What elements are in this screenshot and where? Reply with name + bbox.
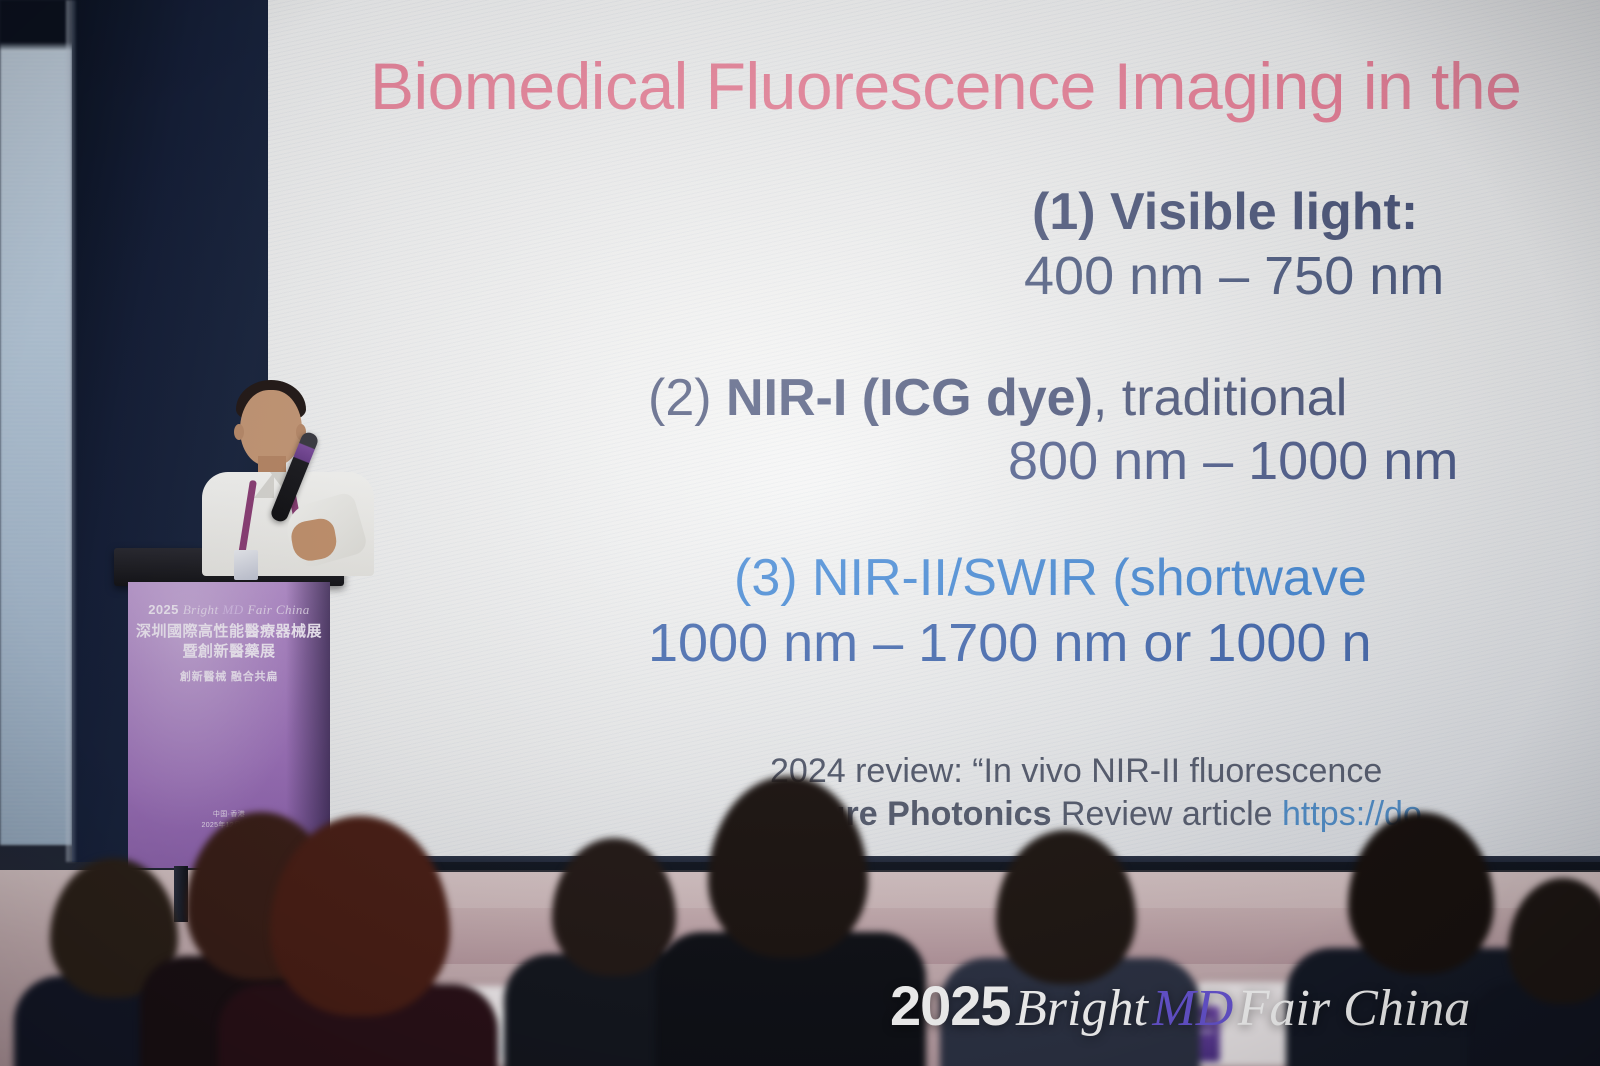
podium-cn-line-2: 暨創新醫藥展 <box>128 640 330 661</box>
projection-screen: Biomedical Fluorescence Imaging in the (… <box>268 0 1600 856</box>
audience-member <box>1480 856 1600 1066</box>
pillar-edge-highlight <box>66 0 76 862</box>
presentation-slide: Biomedical Fluorescence Imaging in the (… <box>268 0 1600 856</box>
speaker-presenter <box>196 368 386 568</box>
speaker-head <box>240 390 302 466</box>
watermark-bright: Bright <box>1015 980 1148 1037</box>
audience-member <box>660 776 910 1066</box>
slide-point-3-heading: (3) NIR-II/SWIR (shortwave <box>734 548 1367 608</box>
podium-brand-line: 2025 Bright MD Fair China <box>128 602 330 618</box>
podium-brand-bright: Bright <box>183 602 219 617</box>
watermark-fair-china: Fair China <box>1238 980 1471 1037</box>
slide-point-2-suffix: , traditional <box>1093 369 1347 427</box>
slide-title: Biomedical Fluorescence Imaging in the <box>370 52 1521 121</box>
led-window-strip <box>0 0 72 845</box>
audience-member <box>212 816 492 1066</box>
podium-cn-line-1: 深圳國際高性能醫療器械展 <box>128 620 330 641</box>
event-watermark: 2025 Bright MD Fair China <box>890 973 1470 1038</box>
podium-cn-tagline: 創新醫械 融合共扁 <box>128 668 330 684</box>
podium-brand-md: MD <box>222 602 243 617</box>
slide-point-2-range: 800 nm – 1000 nm <box>1008 430 1458 492</box>
slide-point-2-heading: (2) NIR-I (ICG dye), traditional <box>648 368 1347 428</box>
slide-point-2-bold: NIR-I (ICG dye) <box>726 369 1093 427</box>
watermark-md: MD <box>1152 980 1233 1037</box>
podium-brand-fair-china: Fair China <box>248 602 310 617</box>
conference-photo: Biomedical Fluorescence Imaging in the (… <box>0 0 1600 1066</box>
slide-point-1-heading: (1) Visible light: <box>1032 182 1418 242</box>
slide-point-1-range: 400 nm – 750 nm <box>1024 245 1444 307</box>
speaker-ear-left <box>234 424 244 440</box>
slide-point-2-prefix: (2) <box>648 369 726 427</box>
podium-brand-year: 2025 <box>148 602 179 617</box>
watermark-year: 2025 <box>890 974 1011 1037</box>
speaker-badge <box>234 550 258 580</box>
slide-point-3-range: 1000 nm – 1700 nm or 1000 n <box>648 612 1372 674</box>
